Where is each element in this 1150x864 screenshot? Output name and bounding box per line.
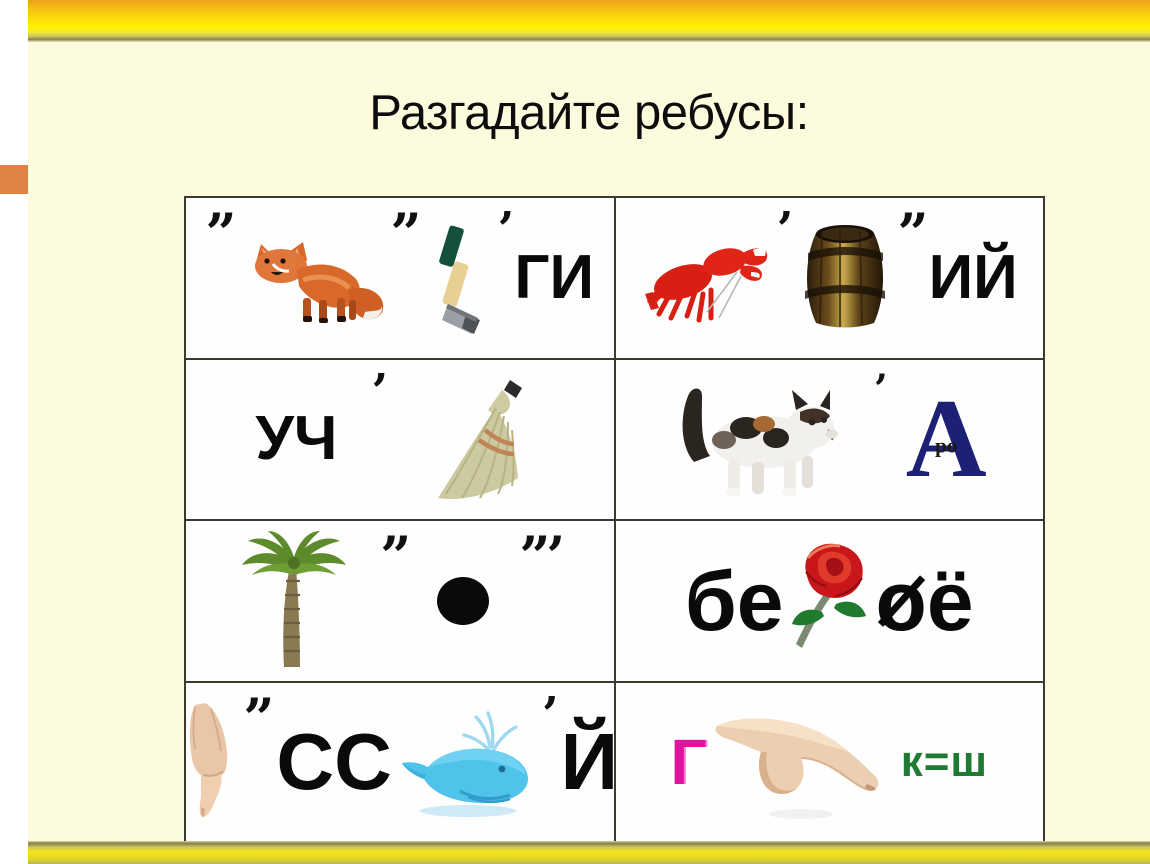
- rebus-letters: бе: [685, 559, 784, 643]
- apostrophe-mark: ”: [391, 206, 418, 260]
- rebus-letters: ИЙ: [929, 247, 1018, 309]
- rebus-cell-7[interactable]: ” СС: [186, 683, 616, 843]
- page-title: Разгадайте ребусы:: [28, 84, 1150, 142]
- magenta-letter-g: Г: [670, 730, 706, 794]
- rose-icon: [778, 540, 882, 662]
- table-row: ” ”’ бе: [186, 521, 1043, 683]
- apostrophe-mark: ”’: [519, 529, 561, 583]
- substitution-note: к=ш: [901, 740, 988, 784]
- apostrophe-mark: ’: [874, 370, 884, 410]
- apostrophe-mark: ”: [243, 691, 270, 745]
- rebus-letters: УЧ: [255, 408, 337, 470]
- apostrophe-mark: ”: [898, 206, 925, 260]
- rebus-cell-2[interactable]: ’: [616, 198, 1044, 358]
- rebus-table: ”: [184, 196, 1045, 844]
- table-row: ” СС: [186, 683, 1043, 843]
- struck-letter-o: о: [876, 559, 927, 643]
- whale-icon: [398, 707, 536, 817]
- cat-icon: [672, 376, 852, 502]
- apostrophe-mark: ’: [542, 691, 555, 739]
- rebus-cell-5[interactable]: ” ”’: [186, 521, 616, 681]
- palm-tree-icon: [238, 531, 350, 671]
- table-row: УЧ ’: [186, 360, 1043, 522]
- axe-icon: [422, 222, 494, 334]
- apostrophe-mark: ’: [777, 206, 790, 254]
- broom-icon: [418, 374, 544, 504]
- fox-icon: [237, 230, 387, 326]
- apostrophe-mark: ”: [205, 206, 232, 260]
- crayfish-icon: [641, 226, 773, 330]
- rebus-letters: Й: [561, 722, 616, 802]
- rebus-cell-8[interactable]: Г к=ш: [616, 683, 1044, 843]
- orange-accent-square: [0, 165, 28, 194]
- table-row: ”: [186, 198, 1043, 360]
- rebus-cell-1[interactable]: ”: [186, 198, 616, 358]
- apostrophe-mark: ’: [498, 206, 511, 254]
- bottom-decorative-bar: [28, 844, 1150, 864]
- rebus-cell-3[interactable]: УЧ ’: [186, 360, 616, 520]
- barrel-icon: [794, 219, 894, 337]
- pointing-hand-icon: [186, 701, 237, 823]
- pointing-hand-icon: [709, 702, 899, 822]
- top-decorative-bar: [28, 0, 1150, 39]
- rebus-letters: ё: [927, 559, 974, 643]
- rebus-cell-4[interactable]: ’ А ро: [616, 360, 1044, 520]
- top-bar-edge: [28, 39, 1150, 42]
- inner-letters-ro: ро: [935, 435, 957, 456]
- rebus-letters: СС: [276, 722, 392, 802]
- apostrophe-mark: ’: [371, 368, 384, 416]
- rebus-letters: ГИ: [514, 247, 594, 309]
- rebus-cell-6[interactable]: бе о: [616, 521, 1044, 681]
- slide: Разгадайте ребусы: ”: [0, 0, 1150, 864]
- apostrophe-mark: ”: [380, 529, 407, 583]
- black-dot-icon: [437, 577, 489, 625]
- letter-a-with-ro: А ро: [906, 383, 987, 495]
